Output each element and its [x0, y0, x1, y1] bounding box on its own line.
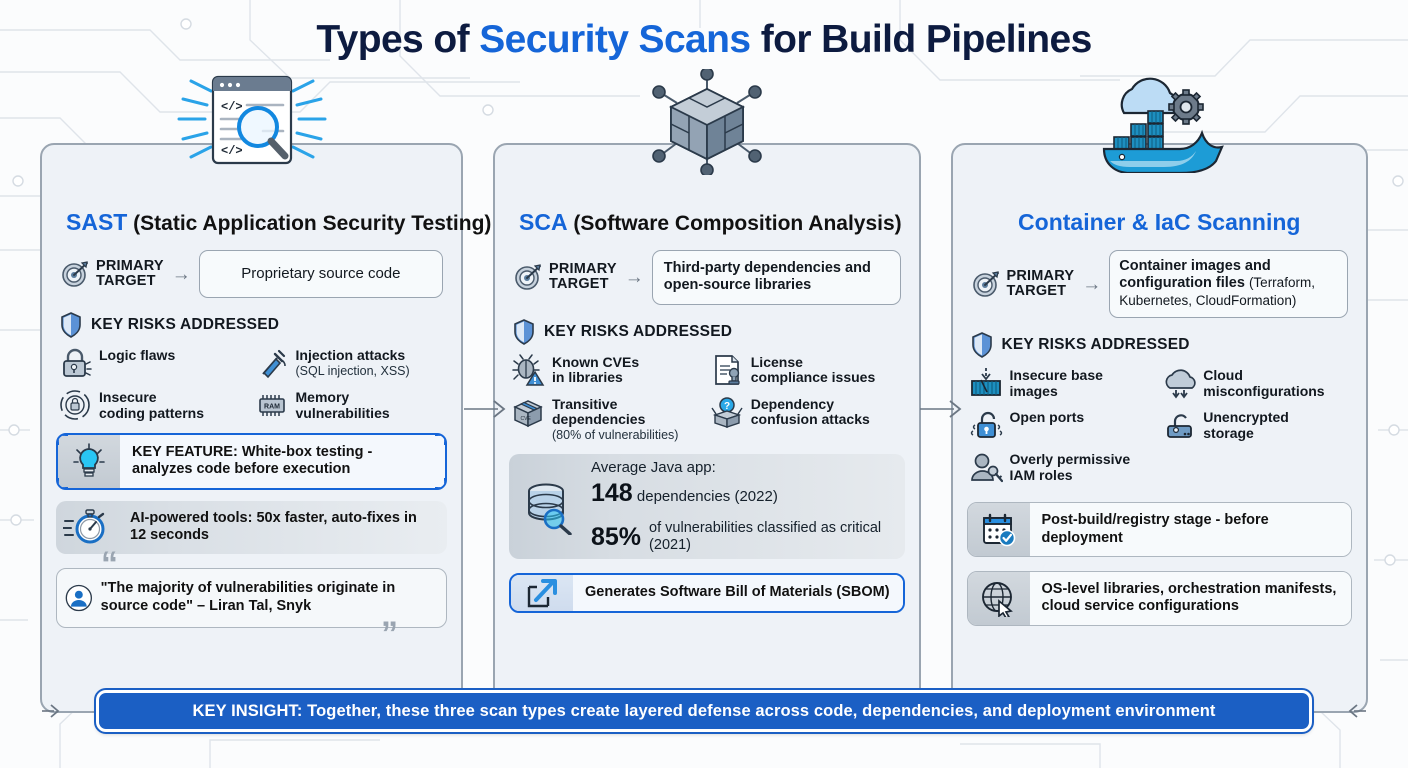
target-icon — [513, 262, 543, 292]
stat-value-critical: 85% — [591, 523, 641, 552]
panel-container-iac[interactable]: Container & IaC Scanning PRIMARY TARGET … — [951, 143, 1369, 713]
open-box-question-icon: ? — [710, 395, 744, 429]
panel-title-sca: SCA (Software Composition Analysis) — [509, 209, 905, 236]
arrow-left-to-insight-icon — [40, 701, 66, 721]
key-insight-row: KEY INSIGHT: Together, these three scan … — [40, 690, 1368, 732]
package-box-icon: CVE — [511, 395, 545, 429]
stat-line-2: 148 dependencies (2022) — [591, 478, 891, 509]
risk-item: Cloudmisconfigurations — [1162, 366, 1350, 400]
key-risks-text: KEY RISKS ADDRESSED — [1002, 336, 1190, 354]
stat-line-1: Average Java app: — [591, 459, 891, 478]
export-arrow-icon — [511, 575, 573, 611]
risk-grid-sca: Known CVEsin libraries Licensecompliance… — [509, 353, 905, 442]
risk-item: Open ports — [969, 408, 1157, 442]
puzzle-cube-network-icon — [637, 69, 777, 180]
stat-content: Average Java app: 148 dependencies (2022… — [587, 454, 905, 559]
os-level-text: OS-level libraries, orchestration manife… — [1030, 572, 1352, 625]
risk-label-main: Injection attacks — [296, 347, 406, 363]
cloud-download-icon — [1162, 366, 1196, 400]
title-pre: Types of — [316, 18, 479, 61]
shield-icon — [60, 312, 82, 338]
globe-cursor-icon — [968, 572, 1030, 625]
primary-target-label: PRIMARY TARGET — [96, 259, 164, 289]
primary-target-label: PRIMARY TARGET — [549, 262, 617, 292]
risk-item: RAM Memoryvulnerabilities — [255, 388, 446, 422]
stat-line-3: 85% of vulnerabilities classified as cri… — [591, 520, 891, 553]
shield-icon — [971, 332, 993, 358]
risk-item: Known CVEsin libraries — [511, 353, 704, 387]
container-download-icon — [969, 366, 1003, 400]
arrow-sast-to-sca — [462, 398, 514, 420]
risk-label: Overly permissiveIAM roles — [1010, 450, 1131, 483]
post-build-box-container: Post-build/registry stage - before deplo… — [967, 502, 1353, 557]
svg-text:RAM: RAM — [264, 404, 280, 411]
target-label-line1: PRIMARY — [1007, 268, 1075, 284]
license-stamp-icon — [710, 353, 744, 387]
key-risks-heading-container: KEY RISKS ADDRESSED — [971, 332, 1353, 358]
svg-text:CVE: CVE — [521, 416, 532, 422]
corner-accent — [56, 433, 68, 445]
primary-target-label: PRIMARY TARGET — [1007, 269, 1075, 299]
corner-accent — [56, 478, 68, 490]
risk-label: Unencryptedstorage — [1203, 408, 1289, 441]
risk-item: Injection attacks (SQL injection, XSS) — [255, 346, 446, 380]
bug-warning-icon — [511, 353, 545, 387]
panel-sast[interactable]: </> </> SAST (Static Application Securit… — [40, 143, 463, 713]
os-level-box-container: OS-level libraries, orchestration manife… — [967, 571, 1353, 626]
risk-label: Licensecompliance issues — [751, 353, 876, 386]
primary-target-row-container: PRIMARY TARGET → Container images and co… — [967, 248, 1353, 318]
database-search-icon — [509, 454, 587, 559]
user-avatar-icon — [65, 577, 93, 619]
stat-value-critical-label: of vulnerabilities classified as critica… — [649, 520, 890, 553]
user-key-icon — [969, 450, 1003, 484]
corner-accent — [435, 478, 447, 490]
panel-sca[interactable]: SCA (Software Composition Analysis) PRIM… — [493, 143, 921, 713]
quote-mark-open: “ — [101, 547, 118, 581]
key-insight-banner: KEY INSIGHT: Together, these three scan … — [96, 690, 1312, 732]
primary-target-value-sast: Proprietary source code — [199, 250, 443, 298]
risk-label: Memoryvulnerabilities — [296, 388, 390, 421]
unlocked-drive-icon — [1162, 408, 1196, 442]
page-title: Types of Security Scans for Build Pipeli… — [0, 0, 1408, 62]
quote-text: "The majority of vulnerabilities origina… — [93, 580, 436, 615]
open-lock-ports-icon — [969, 408, 1003, 442]
stat-box-sca: Average Java app: 148 dependencies (2022… — [509, 454, 905, 559]
title-post: for Build Pipelines — [750, 18, 1091, 61]
post-build-text: Post-build/registry stage - before deplo… — [1030, 503, 1352, 556]
stat-value-dependencies-label: dependencies (2022) — [633, 488, 778, 505]
panel-acronym-sast: SAST — [66, 209, 127, 235]
primary-target-value-sca: Third-party dependencies and open-source… — [652, 250, 901, 305]
target-arrow-icon: → — [1082, 275, 1101, 294]
primary-target-row-sast: PRIMARY TARGET → Proprietary source code — [56, 248, 447, 298]
padlock-icon — [58, 346, 92, 380]
sbom-box-sca: Generates Software Bill of Materials (SB… — [509, 573, 905, 613]
risk-label-note: (80% of vulnerabilities) — [552, 428, 678, 442]
risk-item: Insecurecoding patterns — [58, 388, 249, 422]
svg-text:</>: </> — [221, 100, 243, 114]
panel-title-sast: SAST (Static Application Security Testin… — [56, 209, 447, 236]
target-arrow-icon: → — [172, 265, 191, 284]
risk-grid-sast: Logic flaws Injection attacks (SQL injec… — [56, 346, 447, 422]
calendar-check-icon — [968, 503, 1030, 556]
key-insight-text: Together, these three scan types create … — [302, 702, 1215, 720]
target-arrow-icon: → — [625, 268, 644, 287]
panels-container: </> </> SAST (Static Application Securit… — [40, 143, 1368, 713]
risk-label: Insecure baseimages — [1010, 366, 1103, 399]
code-window-magnifier-icon: </> </> — [167, 69, 337, 174]
key-risks-heading-sast: KEY RISKS ADDRESSED — [60, 312, 447, 338]
key-risks-heading-sca: KEY RISKS ADDRESSED — [513, 319, 905, 345]
panel-subtitle-sast: (Static Application Security Testing) — [127, 212, 491, 235]
key-feature-box-sast: KEY FEATURE: White-box testing - analyze… — [56, 433, 447, 490]
risk-label: Logic flaws — [99, 346, 175, 364]
panel-title-container: Container & IaC Scanning — [967, 209, 1353, 236]
risk-item: Insecure baseimages — [969, 366, 1157, 400]
panel-acronym-sca: SCA — [519, 209, 568, 235]
key-risks-text: KEY RISKS ADDRESSED — [91, 316, 279, 334]
target-label-line2: TARGET — [96, 273, 156, 289]
ai-tools-text: AI-powered tools: 50x faster, auto-fixes… — [118, 501, 447, 554]
risk-label: Insecurecoding patterns — [99, 388, 204, 421]
docker-whale-cloud-gear-icon — [1084, 69, 1234, 178]
key-risks-text: KEY RISKS ADDRESSED — [544, 323, 732, 341]
risk-item: ? Dependencyconfusion attacks — [710, 395, 903, 442]
risk-label: Transitivedependencies (80% of vulnerabi… — [552, 395, 678, 442]
risk-label-note: (SQL injection, XSS) — [296, 364, 410, 378]
risk-label: Known CVEsin libraries — [552, 353, 639, 386]
stat-value-dependencies: 148 — [591, 479, 633, 507]
risk-item: Logic flaws — [58, 346, 249, 380]
primary-target-value-container: Container images and configuration files… — [1109, 250, 1348, 318]
quote-box-sast: “ ” "The majority of vulnerabilities ori… — [56, 568, 447, 628]
corner-accent — [435, 433, 447, 445]
primary-target-row-sca: PRIMARY TARGET → Third-party dependencie… — [509, 248, 905, 305]
risk-label: Injection attacks (SQL injection, XSS) — [296, 346, 410, 378]
sbom-text: Generates Software Bill of Materials (SB… — [573, 575, 903, 611]
risk-item: CVE Transitivedependencies (80% of vulne… — [511, 395, 704, 442]
risk-label: Open ports — [1010, 408, 1085, 426]
risk-label: Cloudmisconfigurations — [1203, 366, 1324, 399]
target-icon — [60, 259, 90, 289]
shield-icon — [513, 319, 535, 345]
syringe-icon — [255, 346, 289, 380]
target-lock-icon — [58, 388, 92, 422]
ram-chip-icon: RAM — [255, 388, 289, 422]
target-label-line1: PRIMARY — [96, 258, 164, 274]
risk-grid-container: Insecure baseimages Cloudmisconfiguratio… — [967, 366, 1353, 484]
target-label-line2: TARGET — [549, 276, 609, 292]
target-label-line2: TARGET — [1007, 283, 1067, 299]
panel-subtitle-sca: (Software Composition Analysis) — [568, 212, 902, 235]
risk-label: Dependencyconfusion attacks — [751, 395, 870, 428]
risk-item: Overly permissiveIAM roles — [969, 450, 1157, 484]
key-feature-text: KEY FEATURE: White-box testing - analyze… — [120, 435, 445, 488]
key-insight-prefix: KEY INSIGHT: — [192, 702, 302, 720]
title-highlight: Security Scans — [479, 18, 750, 61]
quote-mark-close: ” — [381, 617, 398, 651]
target-icon — [971, 269, 1001, 299]
risk-grid-spacer — [1162, 450, 1350, 484]
arrow-right-to-insight-icon — [1342, 701, 1368, 721]
risk-item: Unencryptedstorage — [1162, 408, 1350, 442]
risk-item: Licensecompliance issues — [710, 353, 903, 387]
target-label-line1: PRIMARY — [549, 261, 617, 277]
svg-text:</>: </> — [221, 144, 243, 158]
arrow-sca-to-container — [918, 398, 970, 420]
key-feature-prefix: KEY FEATURE: — [132, 444, 238, 460]
